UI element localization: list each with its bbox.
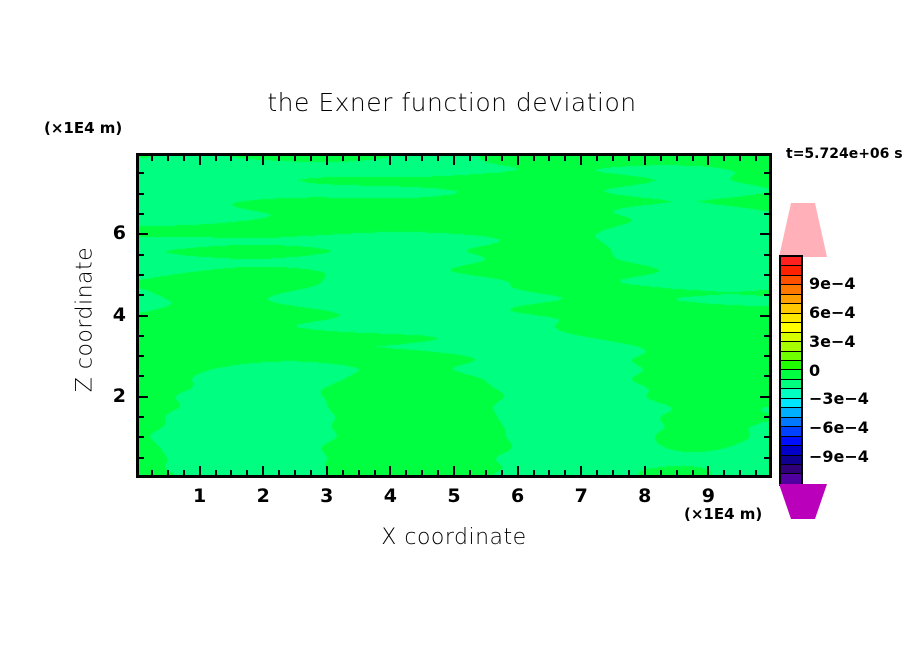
colorbar-band	[781, 427, 801, 436]
x-tick-top	[151, 156, 153, 161]
x-tick-top	[660, 156, 662, 161]
x-tick-top	[421, 156, 423, 161]
x-tick-top	[707, 156, 709, 165]
x-tick-top	[596, 156, 598, 161]
x-tick-minor	[469, 470, 471, 475]
timestamp-label: t=5.724e+06 s	[786, 146, 903, 162]
x-tick-minor	[342, 470, 344, 475]
x-tick-label: 9	[693, 485, 723, 507]
y-tick-right	[764, 213, 769, 215]
x-tick-label: 4	[375, 485, 405, 507]
x-tick-top	[294, 156, 296, 161]
colorbar-band	[781, 333, 801, 342]
colorbar-band	[781, 456, 801, 465]
x-tick-top	[358, 156, 360, 161]
x-tick-top	[262, 156, 264, 165]
x-tick-label: 1	[185, 485, 215, 507]
x-tick-minor	[405, 470, 407, 475]
x-tick-top	[580, 156, 582, 165]
x-tick-top	[342, 156, 344, 161]
x-tick-minor	[548, 470, 550, 475]
x-tick-major	[644, 466, 646, 475]
x-tick-top	[692, 156, 694, 161]
colorbar-tick-label: −9e−4	[809, 447, 869, 466]
x-tick-minor	[246, 470, 248, 475]
x-tick-top	[167, 156, 169, 161]
y-axis-unit-label: (×1E4 m)	[44, 119, 122, 137]
x-tick-major	[389, 466, 391, 475]
y-tick-major	[139, 396, 148, 398]
colorbar-band	[781, 446, 801, 455]
colorbar-band	[781, 285, 801, 294]
y-tick-right	[760, 233, 769, 235]
colorbar-tick-label: 3e−4	[809, 332, 856, 351]
colorbar-band	[781, 418, 801, 427]
y-tick-label: 4	[96, 304, 126, 326]
x-tick-top	[644, 156, 646, 165]
colorbar-band	[781, 437, 801, 446]
colorbar-tick-label: −6e−4	[809, 418, 869, 437]
x-tick-major	[517, 466, 519, 475]
x-tick-top	[739, 156, 741, 161]
colorbar-tick-label: 6e−4	[809, 303, 856, 322]
x-tick-top	[199, 156, 201, 165]
y-tick-minor	[139, 172, 144, 174]
x-tick-major	[453, 466, 455, 475]
colorbar-band	[781, 342, 801, 351]
x-tick-major	[199, 466, 201, 475]
y-tick-right	[764, 457, 769, 459]
x-tick-minor	[230, 470, 232, 475]
x-tick-minor	[421, 470, 423, 475]
contour-field	[139, 156, 769, 475]
x-tick-top	[501, 156, 503, 161]
y-tick-minor	[139, 375, 144, 377]
x-tick-top	[548, 156, 550, 161]
x-tick-minor	[183, 470, 185, 475]
colorbar-tick-label: 9e−4	[809, 274, 856, 293]
x-tick-top	[517, 156, 519, 165]
colorbar-band	[781, 474, 801, 483]
x-tick-minor	[501, 470, 503, 475]
x-tick-top	[755, 156, 757, 161]
x-tick-top	[310, 156, 312, 161]
colorbar-band	[781, 370, 801, 379]
y-tick-right	[764, 193, 769, 195]
y-tick-minor	[139, 436, 144, 438]
x-tick-label: 3	[312, 485, 342, 507]
y-tick-right	[760, 315, 769, 317]
contour-plot-area	[136, 153, 772, 478]
x-tick-top	[405, 156, 407, 161]
x-tick-top	[676, 156, 678, 161]
colorbar-band	[781, 380, 801, 389]
y-tick-minor	[139, 274, 144, 276]
colorbar-band	[781, 295, 801, 304]
colorbar-tick-label: −3e−4	[809, 389, 869, 408]
colorbar-under-arrow-icon	[779, 484, 827, 519]
x-tick-top	[469, 156, 471, 161]
x-tick-top	[374, 156, 376, 161]
x-tick-minor	[358, 470, 360, 475]
y-tick-right	[764, 375, 769, 377]
y-tick-major	[139, 315, 148, 317]
x-tick-top	[183, 156, 185, 161]
x-tick-label: 8	[630, 485, 660, 507]
x-tick-minor	[374, 470, 376, 475]
x-tick-top	[612, 156, 614, 161]
y-tick-minor	[139, 193, 144, 195]
y-tick-minor	[139, 254, 144, 256]
colorbar-bands	[779, 255, 803, 486]
x-tick-minor	[151, 470, 153, 475]
x-tick-minor	[533, 470, 535, 475]
x-tick-minor	[485, 470, 487, 475]
x-tick-label: 5	[439, 485, 469, 507]
colorbar-band	[781, 408, 801, 417]
y-tick-right	[764, 254, 769, 256]
x-tick-top	[437, 156, 439, 161]
x-tick-major	[707, 466, 709, 475]
colorbar	[779, 203, 803, 519]
y-tick-right	[764, 294, 769, 296]
x-tick-top	[278, 156, 280, 161]
x-tick-top	[453, 156, 455, 165]
y-tick-minor	[139, 213, 144, 215]
colorbar-band	[781, 361, 801, 370]
x-tick-minor	[692, 470, 694, 475]
x-tick-label: 2	[248, 485, 278, 507]
x-tick-major	[580, 466, 582, 475]
y-tick-right	[764, 416, 769, 418]
colorbar-band	[781, 465, 801, 474]
y-tick-right	[764, 172, 769, 174]
y-tick-minor	[139, 335, 144, 337]
x-tick-minor	[278, 470, 280, 475]
x-tick-label: 6	[503, 485, 533, 507]
x-tick-top	[215, 156, 217, 161]
x-tick-top	[326, 156, 328, 165]
x-tick-minor	[596, 470, 598, 475]
x-tick-minor	[676, 470, 678, 475]
colorbar-band	[781, 352, 801, 361]
colorbar-band	[781, 314, 801, 323]
x-tick-minor	[660, 470, 662, 475]
y-tick-right	[764, 436, 769, 438]
x-tick-major	[326, 466, 328, 475]
x-tick-minor	[739, 470, 741, 475]
x-tick-minor	[628, 470, 630, 475]
x-tick-top	[485, 156, 487, 161]
colorbar-over-arrow-icon	[779, 203, 827, 257]
x-tick-minor	[294, 470, 296, 475]
x-tick-minor	[723, 470, 725, 475]
x-axis-title: X coordinate	[136, 525, 772, 550]
y-tick-right	[760, 396, 769, 398]
colorbar-band	[781, 399, 801, 408]
x-tick-minor	[167, 470, 169, 475]
y-tick-label: 6	[96, 222, 126, 244]
y-axis-title: Z coordinate	[73, 210, 98, 430]
x-tick-minor	[310, 470, 312, 475]
x-tick-label: 7	[566, 485, 596, 507]
x-tick-minor	[612, 470, 614, 475]
y-tick-minor	[139, 294, 144, 296]
x-tick-top	[230, 156, 232, 161]
colorbar-tick-label: 0	[809, 361, 820, 380]
colorbar-band	[781, 257, 801, 266]
x-tick-top	[533, 156, 535, 161]
colorbar-band	[781, 323, 801, 332]
x-tick-top	[628, 156, 630, 161]
y-tick-right	[764, 335, 769, 337]
y-tick-minor	[139, 416, 144, 418]
x-tick-top	[246, 156, 248, 161]
x-tick-minor	[437, 470, 439, 475]
colorbar-band	[781, 276, 801, 285]
x-tick-minor	[564, 470, 566, 475]
x-tick-minor	[755, 470, 757, 475]
x-tick-minor	[215, 470, 217, 475]
y-tick-right	[764, 274, 769, 276]
y-tick-major	[139, 233, 148, 235]
y-tick-right	[764, 355, 769, 357]
x-axis-unit-label: (×1E4 m)	[684, 505, 762, 523]
colorbar-band	[781, 304, 801, 313]
y-tick-minor	[139, 355, 144, 357]
x-tick-major	[262, 466, 264, 475]
x-tick-top	[723, 156, 725, 161]
x-tick-top	[564, 156, 566, 161]
page-title: the Exner function deviation	[0, 88, 904, 117]
y-tick-minor	[139, 457, 144, 459]
colorbar-band	[781, 266, 801, 275]
x-tick-top	[389, 156, 391, 165]
y-tick-label: 2	[96, 385, 126, 407]
colorbar-band	[781, 389, 801, 398]
